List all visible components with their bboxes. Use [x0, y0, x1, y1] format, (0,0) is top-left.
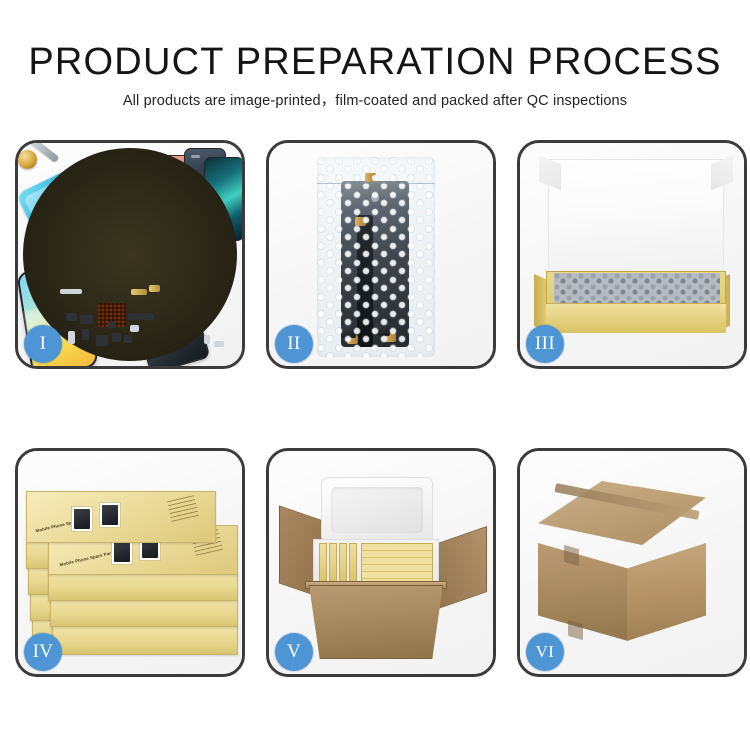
screw-set — [204, 335, 210, 344]
grey-foam-padding — [554, 273, 720, 303]
page-title: PRODUCT PREPARATION PROCESS — [0, 40, 750, 84]
panel-foam-inner-box: III — [517, 140, 747, 369]
header: PRODUCT PREPARATION PROCESS All products… — [0, 0, 750, 125]
panel-sealed-carton: VI — [517, 448, 747, 677]
spare-part — [112, 333, 121, 342]
spare-part — [82, 329, 89, 340]
panel-boxed-stack: Mobile Phone Spare Parts Mobile Phone Sp… — [15, 448, 245, 677]
step-badge-1: I — [24, 325, 62, 363]
step-badge-2: II — [275, 325, 313, 363]
spare-part — [66, 313, 77, 321]
stacked-box — [48, 573, 238, 601]
step-badge-6: VI — [526, 633, 564, 671]
panel-styrofoam-carton: V — [266, 448, 496, 677]
styrofoam-lid — [321, 477, 433, 543]
white-box-lid — [548, 159, 724, 279]
infographic-page: PRODUCT PREPARATION PROCESS All products… — [0, 0, 750, 750]
step-badge-5: V — [275, 633, 313, 671]
step-badge-4: IV — [24, 633, 62, 671]
product-window — [99, 502, 121, 528]
spare-part — [149, 285, 160, 292]
spare-part — [108, 321, 115, 328]
spare-part — [68, 331, 75, 344]
carton-flap-tab — [568, 620, 583, 640]
carton-right-face — [627, 543, 706, 641]
spare-part — [131, 289, 147, 295]
kraft-box-front-wall — [546, 303, 726, 333]
product-window — [71, 506, 93, 532]
stacked-box — [50, 599, 238, 627]
bubble-wrap-bag — [317, 157, 435, 357]
spare-part — [130, 325, 139, 332]
panel-parts-overview: I — [15, 140, 245, 369]
spare-part — [96, 335, 108, 346]
flex-cable-part — [128, 313, 154, 320]
page-subtitle: All products are image-printed，film-coat… — [0, 89, 750, 110]
carton-flap-right — [435, 526, 487, 610]
stacked-box-printed: Mobile Phone Spare Parts — [26, 491, 216, 543]
bubble-texture — [317, 157, 435, 357]
carton-body — [309, 585, 443, 659]
panel-bubble-wrap: II — [266, 140, 496, 369]
carton-left-face — [538, 543, 628, 641]
speaker-coil-gold — [18, 150, 37, 169]
box-stack: Mobile Phone Spare Parts Mobile Phone Sp… — [26, 469, 240, 669]
spare-part — [80, 315, 93, 324]
stacked-box — [52, 625, 238, 655]
step-badge-3: III — [526, 325, 564, 363]
spare-part — [60, 289, 82, 294]
process-step-grid: I II — [15, 140, 737, 680]
screw-set — [214, 341, 224, 347]
spare-part — [124, 335, 132, 343]
bag-flap-seam — [317, 183, 435, 184]
